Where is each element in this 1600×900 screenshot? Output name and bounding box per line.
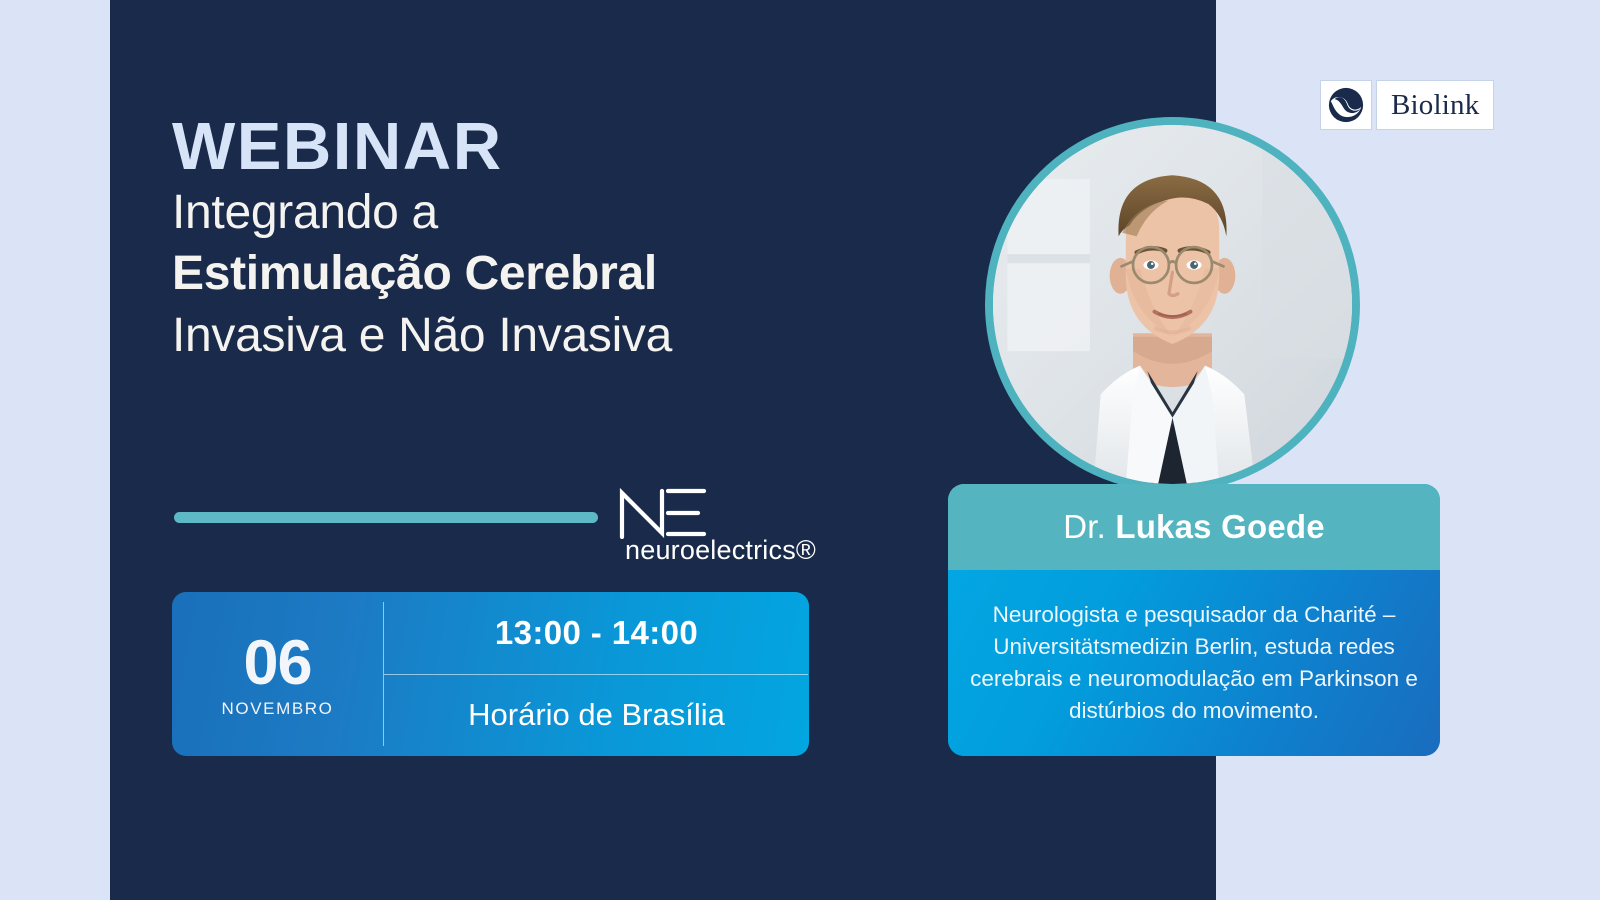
- event-time-row: 13:00 - 14:00: [384, 592, 809, 674]
- event-date-card: 06 NOVEMBRO 13:00 - 14:00 Horário de Bra…: [172, 592, 809, 756]
- biolink-icon-container: [1320, 80, 1372, 130]
- svg-text:neuroelectrics®: neuroelectrics®: [625, 535, 816, 565]
- speaker-name: Dr. Lukas Goede: [1063, 508, 1325, 546]
- headline-line-1: Integrando a: [172, 182, 892, 243]
- headline-block: WEBINAR Integrando a Estimulação Cerebra…: [172, 112, 892, 366]
- biolink-logo: Biolink: [1320, 80, 1494, 130]
- event-timezone-row: Horário de Brasília: [384, 675, 809, 757]
- date-day-block: 06 NOVEMBRO: [172, 592, 383, 756]
- event-time: 13:00 - 14:00: [495, 614, 698, 652]
- speaker-name-band: Dr. Lukas Goede: [948, 484, 1440, 570]
- biolink-wordmark-container: Biolink: [1376, 80, 1494, 130]
- event-month: NOVEMBRO: [222, 699, 334, 719]
- speaker-info-card: Dr. Lukas Goede Neurologista e pesquisad…: [948, 484, 1440, 756]
- neuroelectrics-logo: neuroelectrics®: [608, 487, 818, 569]
- headline-line-2: Estimulação Cerebral: [172, 243, 892, 304]
- biolink-wordmark: Biolink: [1391, 89, 1479, 122]
- date-time-block: 13:00 - 14:00 Horário de Brasília: [384, 592, 809, 756]
- speaker-avatar: [985, 117, 1360, 492]
- teal-divider-rule: [174, 512, 598, 523]
- page-title: WEBINAR: [172, 112, 892, 182]
- speaker-title-prefix: Dr.: [1063, 508, 1115, 545]
- speaker-full-name: Lukas Goede: [1115, 508, 1324, 545]
- biolink-swirl-icon: [1327, 86, 1365, 124]
- event-day: 06: [243, 633, 311, 693]
- headline-line-3: Invasiva e Não Invasiva: [172, 305, 892, 366]
- neuroelectrics-wordmark: neuroelectrics®: [608, 533, 818, 572]
- webinar-poster: WEBINAR Integrando a Estimulação Cerebra…: [0, 0, 1600, 900]
- event-timezone: Horário de Brasília: [468, 697, 725, 733]
- speaker-bio-text: Neurologista e pesquisador da Charité – …: [970, 599, 1418, 727]
- speaker-bio-area: Neurologista e pesquisador da Charité – …: [948, 570, 1440, 756]
